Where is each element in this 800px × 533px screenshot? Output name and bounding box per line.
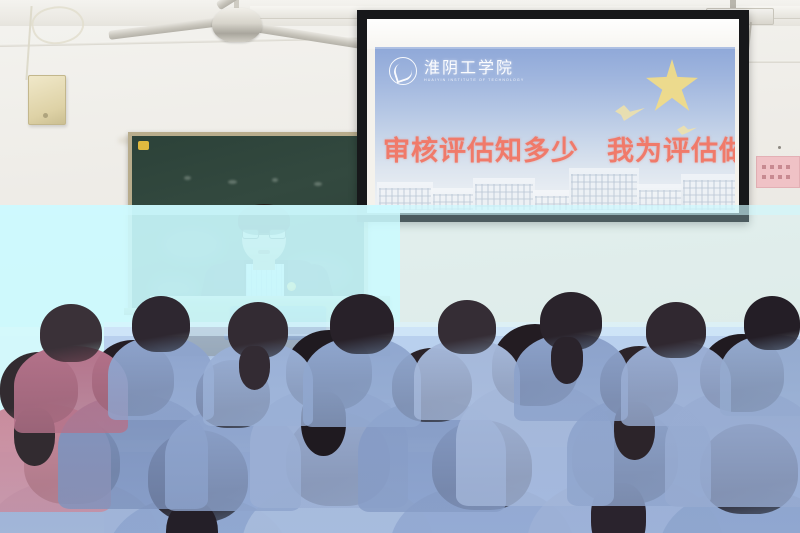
projection-screen: 淮阴工学院 HUAIYIN INSTITUTE OF TECHNOLOGY 审核… <box>357 10 749 222</box>
poster-nail <box>778 146 781 149</box>
presentation-slide: 淮阴工学院 HUAIYIN INSTITUTE OF TECHNOLOGY 审核… <box>375 47 735 213</box>
audience-member-head <box>438 300 496 354</box>
glasses-icon <box>242 229 286 239</box>
wall-notice-poster <box>756 156 800 188</box>
audience-member-head <box>40 304 102 362</box>
audience <box>0 300 800 533</box>
audience-member-ponytail <box>551 337 583 383</box>
blackboard-tape <box>138 141 149 150</box>
screen-surface: 淮阴工学院 HUAIYIN INSTITUTE OF TECHNOLOGY 审核… <box>367 19 739 213</box>
logo-mark-icon <box>389 57 417 85</box>
screen-glare <box>367 19 739 49</box>
audience-member-head <box>646 302 706 358</box>
ceiling-fan-icon <box>100 0 340 48</box>
logo-english-name: HUAIYIN INSTITUTE OF TECHNOLOGY <box>424 79 524 83</box>
hanging-wire <box>24 4 84 84</box>
presenter-badge-icon <box>287 282 296 291</box>
institution-logo: 淮阴工学院 HUAIYIN INSTITUTE OF TECHNOLOGY <box>389 57 524 85</box>
audience-member-head <box>330 294 394 354</box>
lecture-hall-photo: 淮阴工学院 HUAIYIN INSTITUTE OF TECHNOLOGY 审核… <box>0 0 800 533</box>
star-icon <box>645 59 699 113</box>
audience-member-head <box>132 296 190 352</box>
slide-headline: 审核评估知多少 我为评估做贡献 <box>383 129 729 168</box>
audience-member-head <box>744 296 800 350</box>
logo-chinese-name: 淮阴工学院 <box>424 60 524 77</box>
dove-icon <box>615 105 645 121</box>
